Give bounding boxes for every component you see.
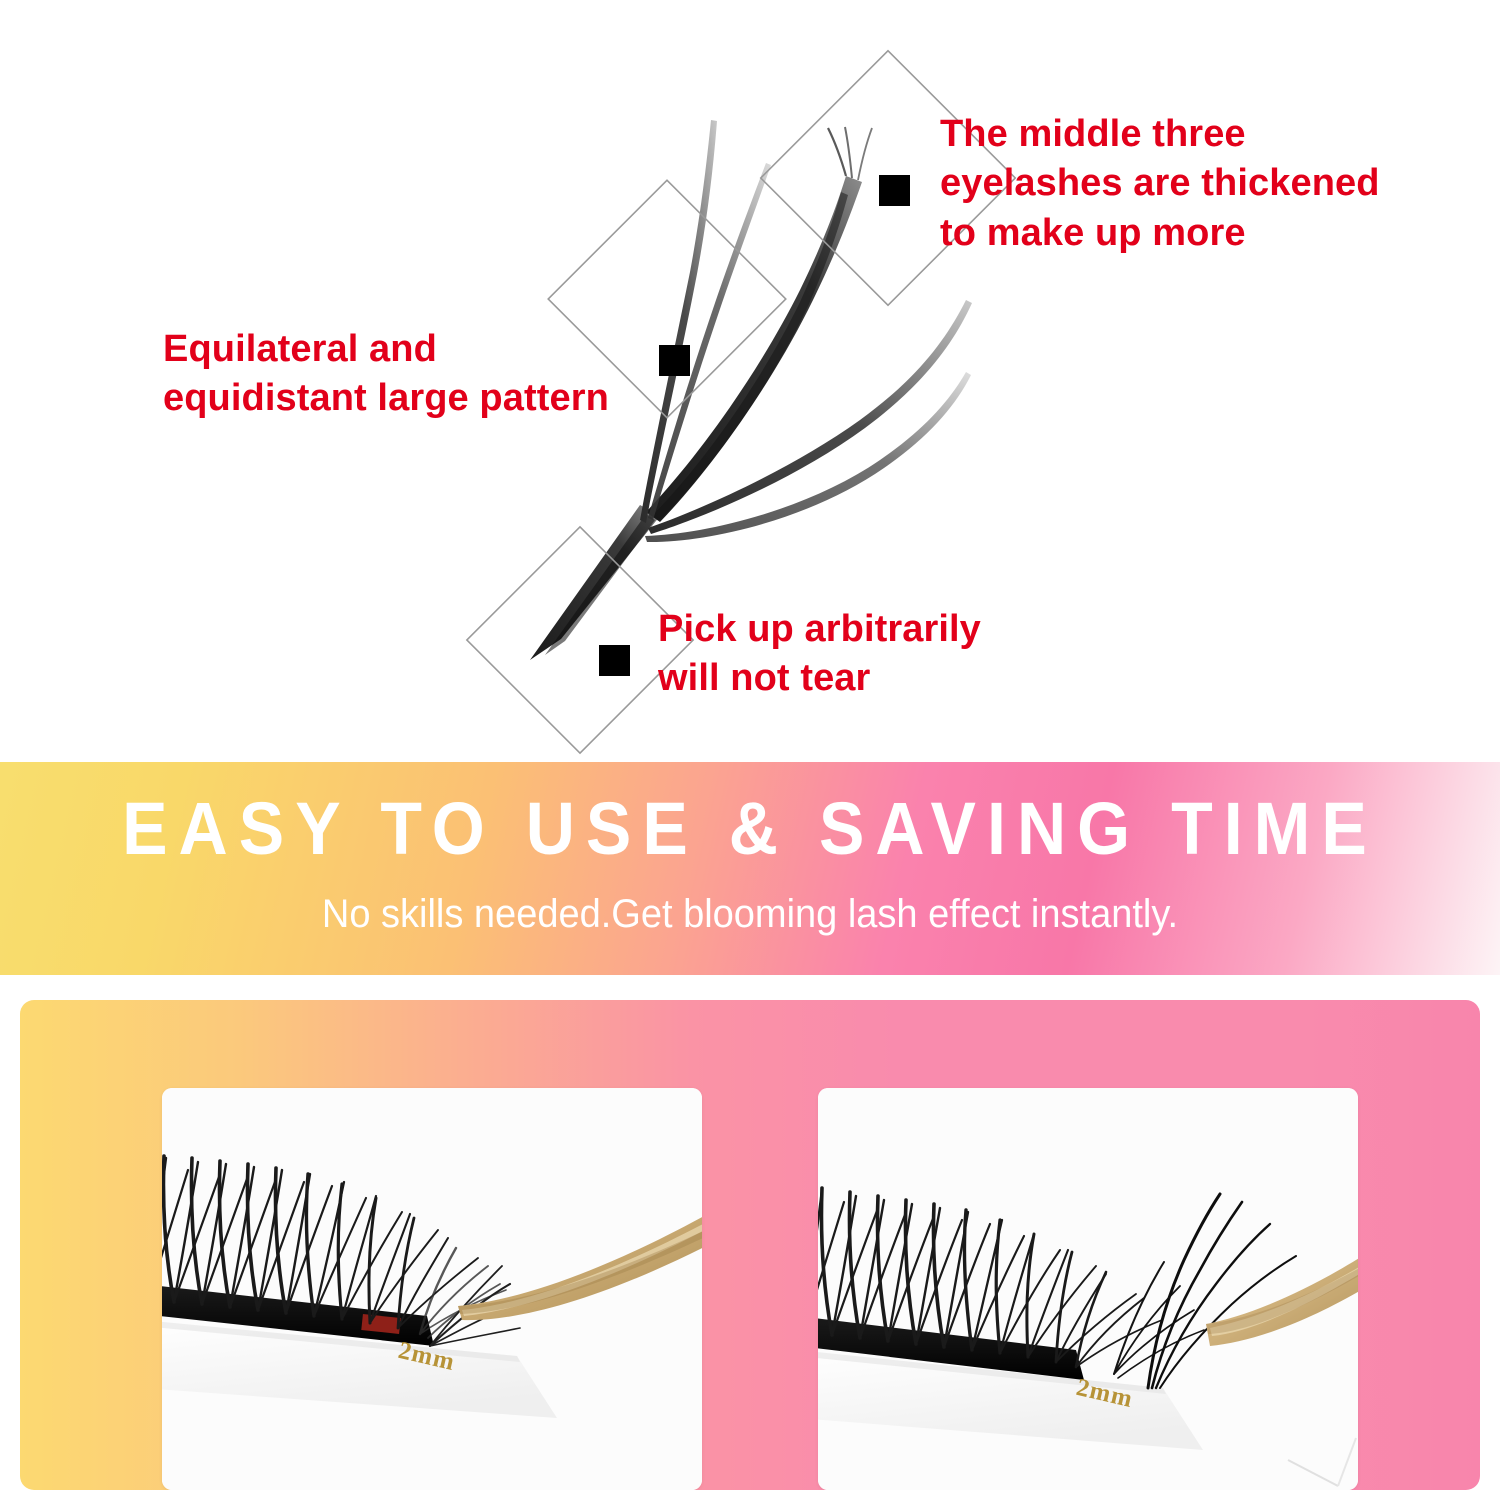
callout-text-no-tear: Pick up arbitrarily will not tear xyxy=(658,605,1078,704)
callout-marker-middle xyxy=(659,345,690,376)
photo-panel-section: 2mm xyxy=(20,1000,1480,1490)
banner-section: EASY TO USE & SAVING TIME No skills need… xyxy=(0,762,1500,975)
banner-subline: No skills needed.Get blooming lash effec… xyxy=(38,894,1463,934)
callout-marker-bottom xyxy=(599,645,630,676)
lash-diagram-section: The middle three eyelashes are thickened… xyxy=(0,0,1500,762)
banner-headline: EASY TO USE & SAVING TIME xyxy=(60,792,1440,866)
callout-marker-top xyxy=(879,175,910,206)
callout-text-equilateral: Equilateral and equidistant large patter… xyxy=(163,325,643,424)
lash-root-base xyxy=(530,505,660,660)
photo-card-tweezers-picking-fan: 2mm xyxy=(162,1088,702,1490)
photo-lash-strip-with-tweezers xyxy=(162,1088,702,1490)
callout-text-thickened: The middle three eyelashes are thickened… xyxy=(940,110,1410,258)
photo-lash-fan-separated xyxy=(818,1088,1358,1490)
left-inner-lash xyxy=(648,163,771,520)
banner-content: EASY TO USE & SAVING TIME No skills need… xyxy=(0,762,1500,975)
photo-card-fan-lifted-off-strip: 2mm xyxy=(818,1088,1358,1490)
infographic-page: The middle three eyelashes are thickened… xyxy=(0,0,1500,1500)
